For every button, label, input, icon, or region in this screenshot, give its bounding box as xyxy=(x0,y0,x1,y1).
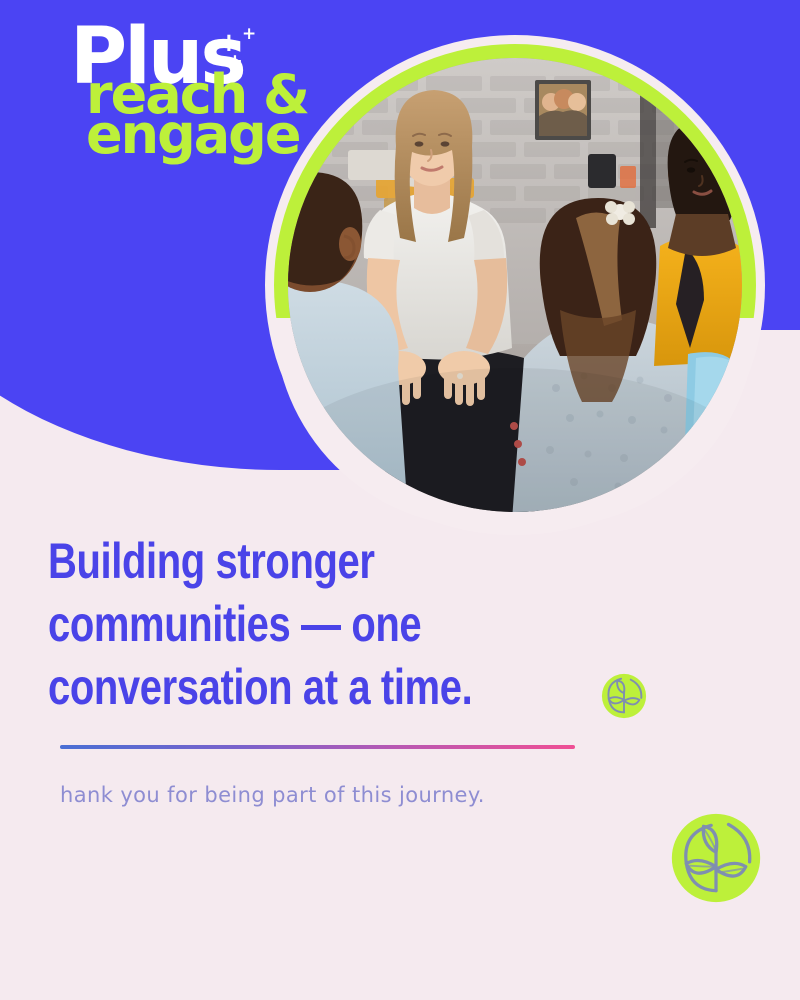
plant-icon-small xyxy=(600,672,648,720)
headline-line-1: Building stronger xyxy=(48,533,375,589)
plant-icon-large xyxy=(668,810,764,906)
content-block: Building stronger communities — one conv… xyxy=(0,530,800,807)
poster-canvas: Plus + + + reach & engage Building stron… xyxy=(0,0,800,1000)
wall-frame xyxy=(535,80,591,140)
photo-medallion xyxy=(265,35,765,535)
page-title: Building stronger communities — one conv… xyxy=(0,530,528,719)
subtitle-text: hank you for being part of this journey. xyxy=(0,783,800,807)
gradient-divider xyxy=(60,745,575,749)
brand-logo[interactable]: Plus + + + reach & engage xyxy=(70,18,340,158)
headline-line-3: conversation at a time. xyxy=(48,659,472,715)
headline-line-2: communities — one xyxy=(48,596,421,652)
logo-word-engage: engage xyxy=(86,110,299,160)
group-photo xyxy=(288,58,742,512)
plus-sparkle-icon-small: + xyxy=(242,26,256,43)
